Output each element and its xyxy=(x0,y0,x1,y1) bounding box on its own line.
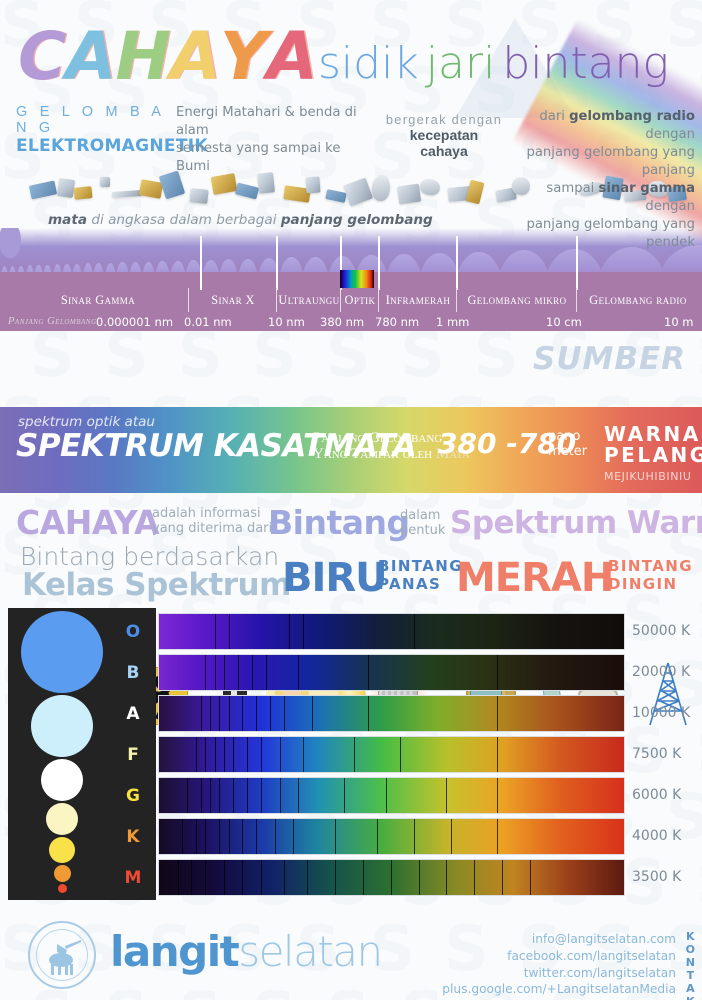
spectrum-row-G xyxy=(158,777,625,814)
visible-range-unit: nano meter xyxy=(548,430,587,459)
subtitle-word-0: sidik xyxy=(318,38,419,89)
wavelength-value-4: 780 nm xyxy=(375,313,419,331)
satellite-icon xyxy=(112,190,142,198)
subtitle-word-2: bintang xyxy=(502,38,669,89)
star-size-A xyxy=(41,759,83,801)
contact-line-1[interactable]: facebook.com/langitselatan xyxy=(442,948,676,965)
langitselatan-seal-logo xyxy=(28,921,96,989)
title-letter-5: A xyxy=(267,18,317,95)
stmt-spektrum-warna: Spektrum Warna xyxy=(450,505,702,541)
txt-sinar-gamma: sinar gamma xyxy=(599,181,695,196)
adalah-line1: adalah informasi xyxy=(152,507,272,522)
class-letter-O: O xyxy=(118,622,148,642)
band-divider xyxy=(378,288,379,312)
wavelength-caption: Panjang Gelombang xyxy=(8,313,97,331)
dalam-line1: dalam xyxy=(400,509,445,524)
em-band-4: Inframerah xyxy=(380,288,456,312)
dalam-line2: bentuk xyxy=(400,524,445,539)
sc2b: Tampak oleh xyxy=(351,446,436,462)
txt-dengan2: dengan xyxy=(645,199,695,214)
kontak-char: T xyxy=(686,970,696,983)
satellites-caption: mata di angkasa dalam berbagai panjang g… xyxy=(48,212,433,228)
satellite-icon xyxy=(343,178,373,207)
satellite-icon xyxy=(29,180,57,199)
sc2a: Yang xyxy=(313,446,351,462)
intro-col-speed: bergerak dengan kecepatan cahaya xyxy=(385,112,503,159)
class-letter-F: F xyxy=(118,745,148,765)
txt-dari: dari xyxy=(539,109,569,124)
sc1b: Gelombang xyxy=(369,430,442,446)
em-band-6: Gelombang radio xyxy=(578,288,698,312)
panas-line1: BINTANG xyxy=(378,557,463,575)
mnemonic-label: MEJIKUHIBINIU xyxy=(604,470,692,483)
satellite-icon xyxy=(73,186,92,200)
class-letter-G: G xyxy=(118,786,148,806)
panas-line2: PANAS xyxy=(378,575,463,593)
kontak-char: K xyxy=(686,996,696,1000)
band-tick-line xyxy=(200,236,202,290)
em-band-2: Ultraungu xyxy=(278,288,340,312)
star-size-G xyxy=(49,837,75,863)
brand-langit: langit xyxy=(110,927,238,976)
satellite-icon xyxy=(139,179,163,199)
dingin-line1: BINTANG xyxy=(608,557,693,575)
stmt-dalam-bentuk: dalam bentuk xyxy=(400,509,445,538)
spectrum-row-F xyxy=(158,736,625,773)
unit-meter: meter xyxy=(548,445,587,460)
wavelength-value-0: 0.000001 nm xyxy=(96,313,173,331)
band-tick-line xyxy=(276,236,278,290)
intro-col-range: dari gelombang radio dengan panjang gelo… xyxy=(505,108,695,252)
warna-line1: WARNA xyxy=(604,424,702,445)
seal-inner-ring xyxy=(36,929,88,981)
sc1a: Panjang xyxy=(313,430,369,446)
intro-energy-line2: semesta yang sampai ke Bumi xyxy=(176,140,376,176)
adalah-line2: yang diterima dari xyxy=(152,522,272,537)
star-size-M xyxy=(58,884,67,893)
kontak-char: N xyxy=(686,957,696,970)
caption-bold-mata: mata xyxy=(48,212,87,228)
wavelength-value-3: 380 nm xyxy=(320,313,364,331)
temperature-label-M: 3500 K xyxy=(632,859,698,896)
caption-bold-panjang: panjang gelombang xyxy=(281,212,433,228)
band-divider xyxy=(188,288,189,312)
warna-line2: PELANGI xyxy=(604,445,702,466)
kontak-vertical-label: KONTAK xyxy=(686,931,696,1000)
star-spectra-chart: OBAFGKM 50000 K20000 K10000 K7500 K6000 … xyxy=(0,605,702,905)
caption-mid: di angkasa dalam berbagai xyxy=(87,212,281,228)
title-letter-2: H xyxy=(116,18,170,95)
wavelength-value-1: 0.01 nm xyxy=(184,313,232,331)
wavelength-value-6: 10 cm xyxy=(546,313,582,331)
stmt-merah: MERAH xyxy=(456,555,613,601)
kontak-char: O xyxy=(686,944,696,957)
temperature-label-B: 20000 K xyxy=(632,654,698,691)
stmt-kelas-spektrum: Kelas Spektrum xyxy=(22,567,291,603)
satellite-icon xyxy=(235,183,259,200)
brand-wordmark: langitselatan xyxy=(110,927,382,976)
em-band-3: Optik xyxy=(342,288,378,312)
spectrum-row-M xyxy=(158,859,625,896)
dingin-line2: DINGIN xyxy=(608,575,693,593)
intro-range-line2: panjang gelombang yang panjang xyxy=(505,144,695,180)
spectrum-row-O xyxy=(158,613,625,650)
satellite-icon xyxy=(371,174,392,202)
spectrum-row-B xyxy=(158,654,625,691)
kontak-char: A xyxy=(686,983,696,996)
star-size-F xyxy=(46,803,78,835)
page-subtitle: sidikjaribintang xyxy=(318,38,676,89)
label-elektromagnetik: ELEKTROMAGNETIK xyxy=(16,136,176,156)
txt-gelombang-radio: gelombang radio xyxy=(569,109,695,124)
stmt-bintang: Bintang xyxy=(268,503,410,542)
intro-energy-line1: Energi Matahari & benda di alam xyxy=(176,104,376,140)
band-divider xyxy=(340,288,341,312)
em-band-5: Gelombang mikro xyxy=(458,288,576,312)
band-divider xyxy=(576,288,577,312)
temperature-label-O: 50000 K xyxy=(632,613,698,650)
satellite-icon xyxy=(100,177,110,187)
optical-mini-spectrum-icon xyxy=(340,270,374,288)
intro-range-line1: dari gelombang radio dengan xyxy=(505,108,695,144)
subtitle-word-1: jari xyxy=(426,38,496,89)
contact-line-0[interactable]: info@langitselatan.com xyxy=(442,931,676,948)
infographic-poster: SSSSSSSSSSSSSSSSSSSSSSSSSSSSSSSSSSSSSSSS… xyxy=(0,0,702,1000)
wavelength-value-2: 10 nm xyxy=(268,313,305,331)
stmt-adalah-informasi: adalah informasi yang diterima dari xyxy=(152,507,272,536)
star-size-K xyxy=(54,865,71,882)
satellite-icon xyxy=(466,180,485,205)
intro-range-line4: panjang gelombang yang pendek xyxy=(505,216,695,252)
title-letter-3: A xyxy=(170,18,220,95)
band-divider xyxy=(456,288,457,312)
satellite-icon xyxy=(57,178,75,198)
class-letter-M: M xyxy=(118,868,148,888)
intro-col-energy: Energi Matahari & benda di alam semesta … xyxy=(176,104,376,176)
stmt-bintang-panas: BINTANG PANAS xyxy=(378,557,463,593)
brand-selatan: selatan xyxy=(238,927,381,976)
satellite-icon xyxy=(211,173,238,195)
statements-block: CAHAYA adalah informasi yang diterima da… xyxy=(0,495,702,605)
wavelength-value-5: 1 mm xyxy=(436,313,469,331)
satellite-icon xyxy=(189,188,208,204)
stmt-biru: BIRU xyxy=(282,555,387,601)
temperature-label-G: 6000 K xyxy=(632,777,698,814)
intro-speed-line2: kecepatan cahaya xyxy=(385,127,503,159)
spectrum-row-K xyxy=(158,818,625,855)
label-gelombang: G E L O M B A N G xyxy=(16,104,176,136)
warna-pelangi-label: WARNA PELANGI xyxy=(604,424,702,466)
page-title: CAHAYA xyxy=(18,18,317,95)
class-letter-K: K xyxy=(118,827,148,847)
title-letter-0: C xyxy=(18,18,65,95)
satellite-icon xyxy=(419,177,441,196)
wavelength-value-7: 10 m xyxy=(664,313,694,331)
title-letter-4: Y xyxy=(220,18,267,95)
sources-icons-row xyxy=(0,331,702,407)
intro-col-em: G E L O M B A N G ELEKTROMAGNETIK xyxy=(16,104,176,156)
title-letter-1: A xyxy=(65,18,115,95)
temperature-label-F: 7500 K xyxy=(632,736,698,773)
class-letter-B: B xyxy=(118,663,148,683)
em-band-1: Sinar X xyxy=(190,288,276,312)
intro-speed-line1: bergerak dengan xyxy=(385,112,503,127)
stmt-cahaya: CAHAYA xyxy=(16,503,159,542)
satellite-icon xyxy=(305,177,320,194)
txt-dengan1: dengan xyxy=(645,127,695,142)
spectrum-row-A xyxy=(158,695,625,732)
centaur-icon xyxy=(37,930,87,980)
contact-list: info@langitselatan.comfacebook.com/langi… xyxy=(442,931,676,1000)
temperature-label-A: 10000 K xyxy=(632,695,698,732)
star-size-B xyxy=(31,695,93,757)
star-size-O xyxy=(21,611,103,693)
temperature-label-K: 4000 K xyxy=(632,818,698,855)
intro-range-line3: sampai sinar gamma dengan xyxy=(505,180,695,216)
contact-line-2[interactable]: twitter.com/langitselatan xyxy=(442,965,676,982)
contact-line-3[interactable]: plus.google.com/+LangitselatanMedia xyxy=(442,981,676,998)
footer: langitselatan info@langitselatan.comface… xyxy=(0,905,702,1000)
unit-nano: nano xyxy=(548,430,587,445)
txt-sampai: sampai xyxy=(546,181,598,196)
satellite-icon xyxy=(397,184,421,205)
band-tick-line xyxy=(456,236,458,290)
stmt-bintang-dingin: BINTANG DINGIN xyxy=(608,557,693,593)
band-divider xyxy=(276,288,277,312)
satellite-icon xyxy=(325,189,347,203)
em-band-0: Sinar Gamma xyxy=(8,288,188,312)
band-tick-line xyxy=(378,236,380,290)
band-tick-line xyxy=(576,236,578,290)
class-letter-A: A xyxy=(118,704,148,724)
